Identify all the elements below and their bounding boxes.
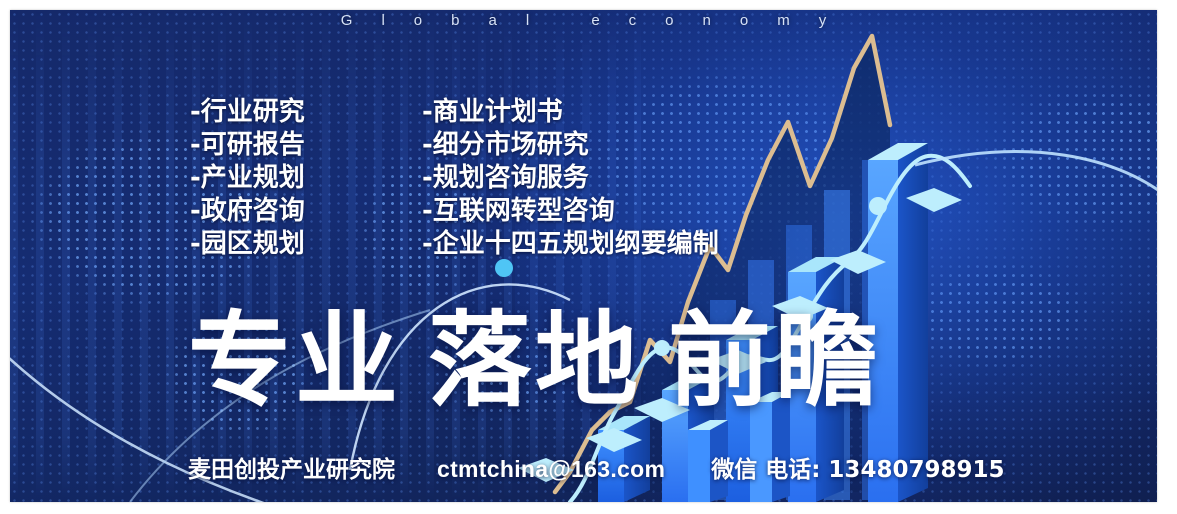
service-item: -互联网转型咨询 xyxy=(422,195,719,228)
service-item: -可研报告 xyxy=(190,129,305,162)
footer-contact-bar: 麦田创投产业研究院ctmtchina@163.com微信 电话: 1348079… xyxy=(188,450,1004,484)
services-list-left: -行业研究 -可研报告 -产业规划 -政府咨询 -园区规划 xyxy=(190,96,305,261)
banner-top-title: Global economy xyxy=(10,12,1157,29)
contact-phone: 微信 电话: 13480798915 xyxy=(711,457,1004,483)
services-list-right: -商业计划书 -细分市场研究 -规划咨询服务 -互联网转型咨询 -企业十四五规划… xyxy=(422,96,719,261)
parabola-apex-dot xyxy=(495,259,513,277)
headline-word-1: 专业 xyxy=(188,301,402,421)
service-item: -政府咨询 xyxy=(190,195,305,228)
headline-word-3: 前瞻 xyxy=(668,301,882,421)
email-address[interactable]: ctmtchina@163.com xyxy=(437,456,665,482)
headline-word-2: 落地 xyxy=(428,301,642,421)
promo-banner: Global economy -行业研究 -可研报告 -产业规划 -政府咨询 -… xyxy=(10,10,1157,502)
service-item: -园区规划 xyxy=(190,228,305,261)
service-item: -行业研究 xyxy=(190,96,305,129)
service-item: -细分市场研究 xyxy=(422,129,719,162)
service-item: -规划咨询服务 xyxy=(422,162,719,195)
organization-name: 麦田创投产业研究院 xyxy=(188,457,395,483)
service-item: -商业计划书 xyxy=(422,96,719,129)
headline-slogan: 专业落地前瞻 xyxy=(188,306,882,416)
service-item: -企业十四五规划纲要编制 xyxy=(422,228,719,261)
service-item: -产业规划 xyxy=(190,162,305,195)
